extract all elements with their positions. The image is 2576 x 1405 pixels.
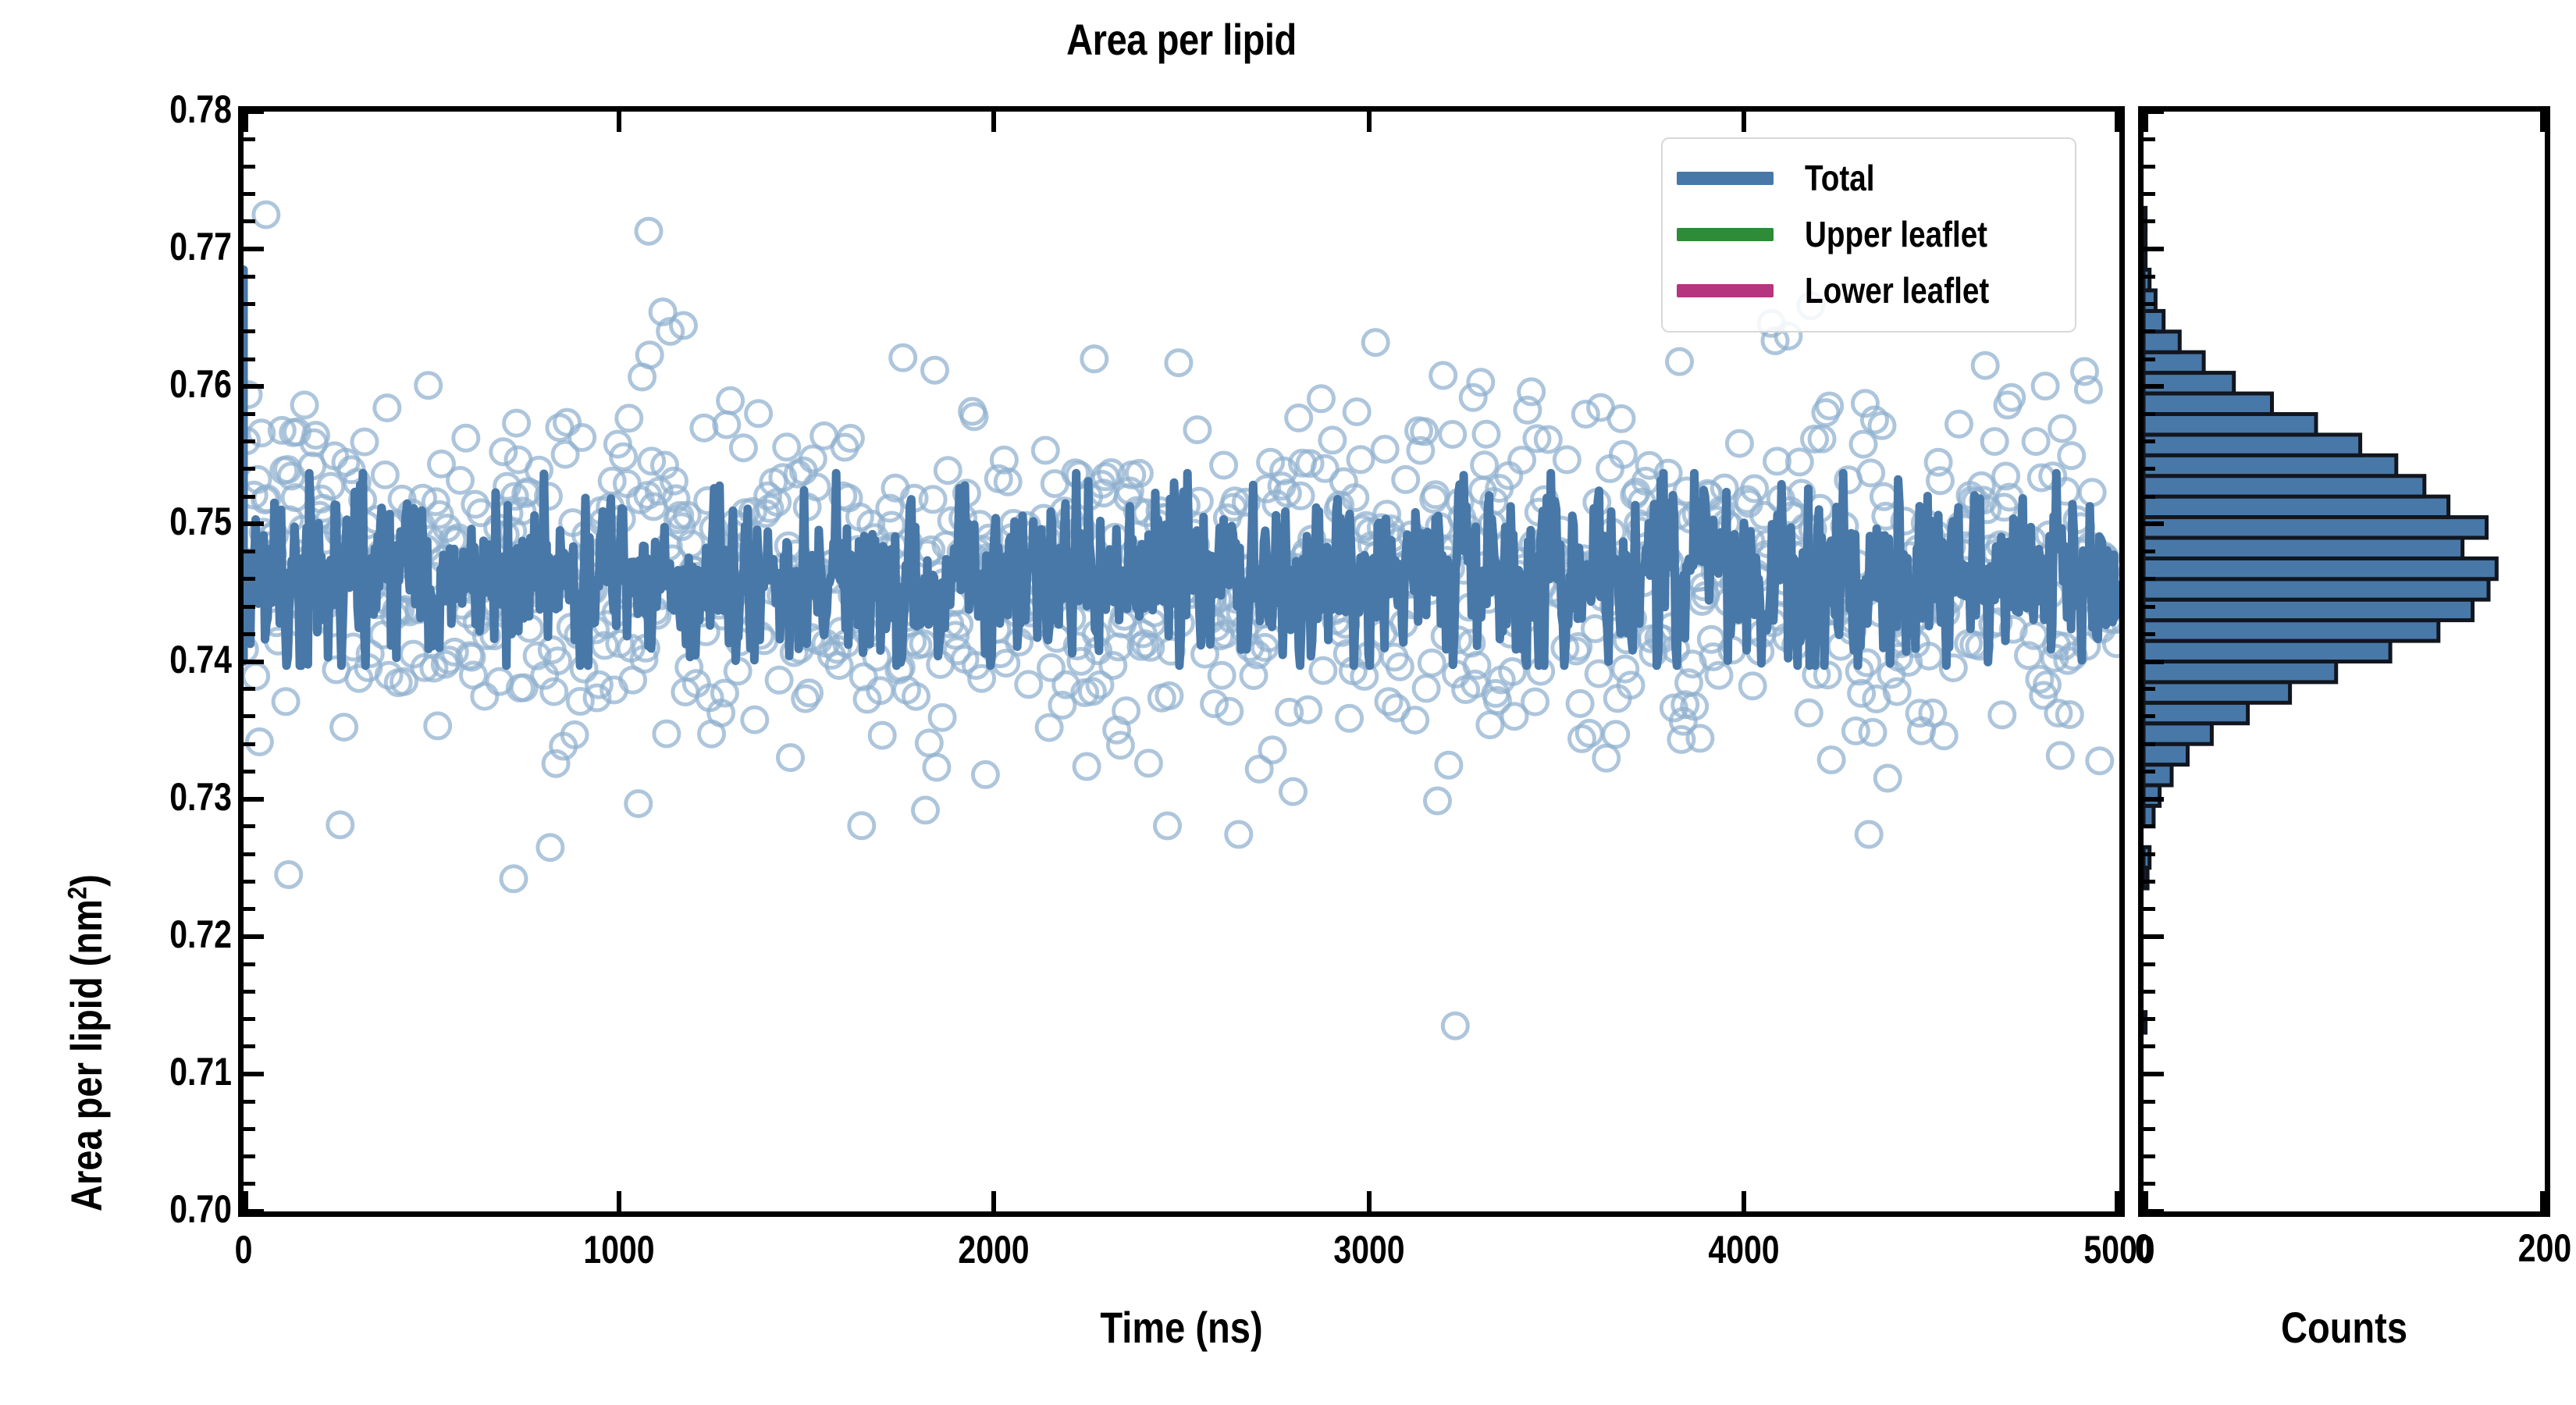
y-tick-label: 0.74 (49, 637, 232, 682)
y-tick-minor (244, 1017, 255, 1021)
hist-y-tick-minor (2144, 1100, 2155, 1104)
y-tick-minor (244, 412, 255, 416)
hist-x-axis-title: Counts (2176, 1302, 2513, 1353)
y-axis-title-tail: ) (62, 874, 111, 887)
hist-y-tick-minor (2144, 1044, 2155, 1048)
hist-y-tick-minor (2144, 605, 2155, 609)
hist-y-tick-major (2144, 660, 2164, 664)
hist-y-tick-minor (2144, 275, 2155, 279)
hist-y-tick-major (2144, 384, 2164, 389)
y-tick-minor (244, 742, 255, 746)
y-tick-major (244, 660, 264, 664)
x-tick-label: 3000 (1273, 1227, 1465, 1272)
y-tick-minor (244, 467, 255, 471)
y-tick-minor (244, 770, 255, 774)
x-tick-major-top (244, 112, 248, 132)
hist-y-tick-major (2144, 521, 2164, 526)
y-tick-minor (244, 907, 255, 911)
y-tick-label: 0.78 (49, 87, 232, 132)
x-tick-major-top (1742, 112, 1746, 132)
hist-y-tick-minor (2144, 467, 2155, 471)
y-tick-minor (244, 1100, 255, 1104)
hist-x-tick-label: 200 (2449, 1225, 2576, 1271)
y-tick-minor (244, 137, 255, 141)
hist-y-tick-minor (2144, 329, 2155, 333)
hist-y-tick-minor (2144, 357, 2155, 361)
hist-y-tick-minor (2144, 907, 2155, 911)
y-tick-minor (244, 852, 255, 856)
y-tick-minor (244, 495, 255, 499)
legend-item-total[interactable]: Total (1677, 150, 2061, 206)
hist-x-tick-top (2144, 112, 2148, 132)
y-tick-minor (244, 880, 255, 884)
y-tick-minor (244, 1182, 255, 1186)
y-tick-major (244, 521, 264, 526)
y-tick-minor (244, 1044, 255, 1048)
hist-x-tick (2540, 1191, 2545, 1211)
y-tick-minor (244, 1127, 255, 1131)
x-tick-major-top (617, 112, 621, 132)
x-tick-major (617, 1191, 621, 1211)
axis-spine-bottom (238, 1211, 2125, 1217)
hist-spine-top (2138, 106, 2550, 112)
y-axis-title-superscript: 2 (62, 887, 92, 899)
hist-y-tick-minor (2144, 770, 2155, 774)
hist-y-tick-minor (2144, 962, 2155, 966)
hist-y-tick-minor (2144, 687, 2155, 691)
hist-y-tick-minor (2144, 219, 2155, 223)
legend-swatch-lower-leaflet (1677, 284, 1774, 297)
hist-y-tick-minor (2144, 1127, 2155, 1131)
x-tick-label: 1000 (523, 1227, 715, 1272)
x-tick-major (2115, 1191, 2119, 1211)
hist-y-tick-major (2144, 247, 2164, 251)
legend-swatch-total (1677, 172, 1774, 185)
hist-x-tick-top (2540, 112, 2545, 132)
x-tick-major-top (2115, 112, 2119, 132)
hist-y-tick-minor (2144, 302, 2155, 306)
hist-y-tick-minor (2144, 632, 2155, 636)
hist-y-tick-minor (2144, 1182, 2155, 1186)
hist-y-tick-minor (2144, 165, 2155, 169)
y-tick-minor (244, 550, 255, 553)
hist-y-tick-minor (2144, 439, 2155, 443)
hist-y-tick-minor (2144, 412, 2155, 416)
hist-y-tick-minor (2144, 550, 2155, 553)
legend-label-total: Total (1805, 157, 1874, 199)
axis-spine-top (238, 106, 2125, 112)
y-tick-minor (244, 219, 255, 223)
hist-y-tick-minor (2144, 137, 2155, 141)
histogram-bars-svg (2144, 112, 2545, 1211)
x-tick-label: 0 (148, 1227, 340, 1272)
hist-y-tick-minor (2144, 495, 2155, 499)
x-tick-major (1367, 1191, 1372, 1211)
hist-y-tick-minor (2144, 192, 2155, 196)
y-tick-minor (244, 302, 255, 306)
hist-y-tick-minor (2144, 742, 2155, 746)
y-tick-label: 0.71 (49, 1049, 232, 1094)
legend-label-lower-leaflet: Lower leaflet (1805, 269, 1989, 311)
y-tick-minor (244, 962, 255, 966)
histogram-panel (2144, 112, 2545, 1211)
y-tick-minor (244, 192, 255, 196)
y-tick-major (244, 797, 264, 802)
hist-y-tick-major (2144, 797, 2164, 802)
y-tick-major (244, 247, 264, 251)
y-tick-minor (244, 329, 255, 333)
y-tick-minor (244, 165, 255, 169)
y-tick-label: 0.72 (49, 912, 232, 957)
hist-y-tick-minor (2144, 577, 2155, 581)
hist-y-tick-minor (2144, 852, 2155, 856)
axis-spine-left (238, 106, 244, 1217)
x-tick-major-top (991, 112, 996, 132)
y-tick-minor (244, 824, 255, 828)
y-tick-label: 0.76 (49, 361, 232, 407)
x-tick-label: 2000 (898, 1227, 1090, 1272)
y-tick-minor (244, 357, 255, 361)
x-tick-major (1742, 1191, 1746, 1211)
y-tick-minor (244, 990, 255, 994)
y-tick-minor (244, 687, 255, 691)
y-tick-minor (244, 577, 255, 581)
y-tick-minor (244, 632, 255, 636)
y-tick-minor (244, 605, 255, 609)
hist-y-tick-minor (2144, 824, 2155, 828)
y-tick-label: 0.77 (49, 224, 232, 269)
figure-canvas: Area per lipid Area per lipid (nm2) 0.70… (0, 0, 2576, 1405)
y-tick-minor (244, 1154, 255, 1158)
y-tick-major (244, 1072, 264, 1076)
x-axis-title: Time (ns) (393, 1302, 1969, 1353)
axis-spine-right (2119, 106, 2125, 1217)
y-tick-label: 0.75 (49, 499, 232, 544)
y-tick-minor (244, 714, 255, 718)
hist-y-tick-major (2144, 1072, 2164, 1076)
hist-y-tick-minor (2144, 880, 2155, 884)
y-tick-major (244, 384, 264, 389)
legend-item-lower-leaflet[interactable]: Lower leaflet (1677, 262, 2061, 318)
hist-y-tick-minor (2144, 1154, 2155, 1158)
legend-swatch-upper-leaflet (1677, 228, 1774, 241)
y-tick-minor (244, 439, 255, 443)
legend-item-upper-leaflet[interactable]: Upper leaflet (1677, 206, 2061, 262)
x-tick-label: 4000 (1648, 1227, 1840, 1272)
x-tick-major-top (1367, 112, 1372, 132)
hist-x-tick-label: 0 (2048, 1225, 2240, 1271)
hist-spine-left (2138, 106, 2144, 1217)
hist-x-tick (2144, 1191, 2148, 1211)
x-tick-major (991, 1191, 996, 1211)
y-tick-major (244, 934, 264, 939)
hist-y-tick-minor (2144, 1017, 2155, 1021)
hist-y-tick-minor (2144, 990, 2155, 994)
hist-y-tick-major (2144, 934, 2164, 939)
hist-spine-right (2545, 106, 2550, 1217)
chart-title: Area per lipid (393, 14, 1969, 65)
legend[interactable]: Total Upper leaflet Lower leaflet (1661, 137, 2076, 333)
hist-spine-bottom (2138, 1211, 2550, 1217)
y-tick-minor (244, 275, 255, 279)
y-tick-label: 0.70 (49, 1186, 232, 1232)
y-tick-label: 0.73 (49, 774, 232, 820)
legend-label-upper-leaflet: Upper leaflet (1805, 213, 1987, 255)
x-tick-major (244, 1191, 248, 1211)
hist-y-tick-minor (2144, 714, 2155, 718)
